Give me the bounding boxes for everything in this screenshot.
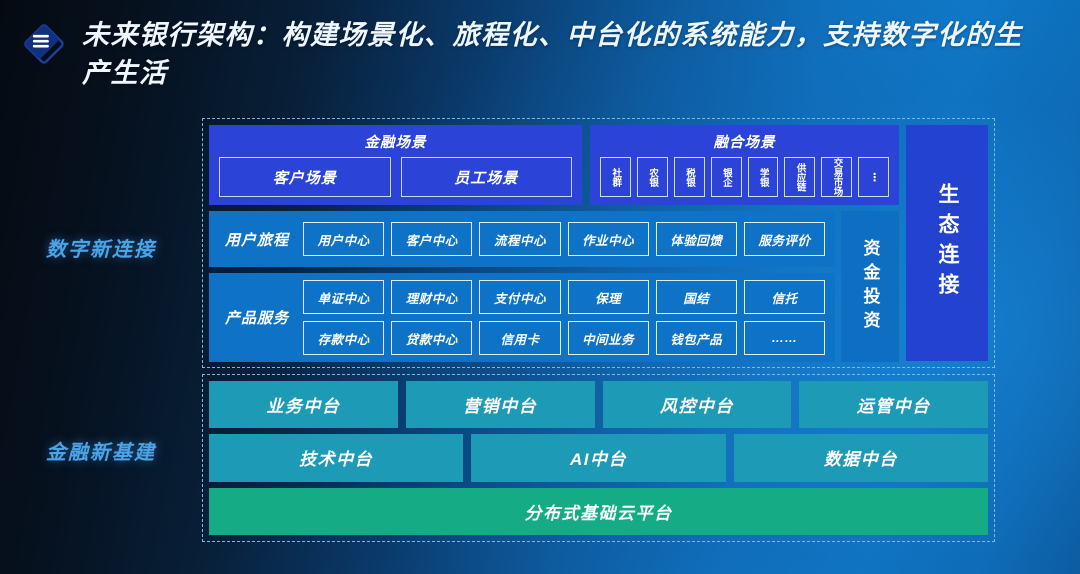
midplatform-ai[interactable]: AI中台: [471, 434, 725, 481]
journey-chip-user-center[interactable]: 用户中心: [303, 222, 384, 256]
fusion-chip-bank-enterprise[interactable]: 银企: [711, 157, 742, 197]
journey-chip-process-center[interactable]: 流程中心: [479, 222, 560, 256]
finance-scene-chip-row: 客户场景 员工场景: [219, 157, 572, 197]
product-service-band: 产品服务 单证中心 理财中心 支付中心 保理 国结 信托 存款中心 贷款中心: [209, 273, 835, 362]
midplatform-technology[interactable]: 技术中台: [209, 434, 463, 481]
product-chip-intl-settlement[interactable]: 国结: [656, 280, 737, 314]
midplatform-operations[interactable]: 运管中台: [799, 381, 988, 428]
user-journey-band: 用户旅程 用户中心 客户中心 流程中心 作业中心 体验回馈 服务评价: [209, 211, 835, 267]
distributed-cloud-platform[interactable]: 分布式基础云平台: [209, 488, 988, 535]
fusion-chip-school-bank[interactable]: 学银: [748, 157, 779, 197]
scene-chip-employee[interactable]: 员工场景: [401, 157, 573, 197]
fusion-chip-agri-bank[interactable]: 农银: [637, 157, 668, 197]
fusion-chip-tax-bank[interactable]: 税银: [674, 157, 705, 197]
midplatform-business[interactable]: 业务中台: [209, 381, 398, 428]
product-chip-document-center[interactable]: 单证中心: [303, 280, 384, 314]
product-chip-row-2: 存款中心 贷款中心 信用卡 中间业务 钱包产品 ……: [303, 321, 825, 355]
upper-panel-content: 金融场景 客户场景 员工场景 融合场景 社群 农银 税银 银企 学银 供应链 交…: [209, 125, 899, 361]
financial-infrastructure-panel: 业务中台 营销中台 风控中台 运管中台 技术中台 AI中台 数据中台 分布式基础…: [202, 374, 995, 542]
product-chip-deposit-center[interactable]: 存款中心: [303, 321, 384, 355]
journey-chip-experience-feedback[interactable]: 体验回馈: [656, 222, 737, 256]
page-header: 未来银行架构：构建场景化、旅程化、中台化的系统能力，支持数字化的生产生活: [0, 0, 1080, 100]
product-service-grid: 单证中心 理财中心 支付中心 保理 国结 信托 存款中心 贷款中心 信用卡 中间…: [303, 280, 825, 355]
finance-scene-block: 金融场景 客户场景 员工场景: [209, 125, 582, 205]
fusion-chip-supply-chain[interactable]: 供应链: [784, 157, 815, 197]
cloud-platform-row: 分布式基础云平台: [209, 488, 988, 535]
fusion-scene-block: 融合场景 社群 农银 税银 银企 学银 供应链 交易市场 ⋮: [590, 125, 899, 205]
fund-investment-column: 资金投资: [841, 211, 899, 362]
journey-chip-operation-center[interactable]: 作业中心: [568, 222, 649, 256]
fusion-chip-community[interactable]: 社群: [600, 157, 631, 197]
product-chip-more[interactable]: ……: [744, 321, 825, 355]
midplatform-data[interactable]: 数据中台: [734, 434, 988, 481]
midplatform-marketing[interactable]: 营销中台: [406, 381, 595, 428]
fusion-scene-title: 融合场景: [714, 131, 776, 152]
scene-chip-customer[interactable]: 客户场景: [219, 157, 391, 197]
fusion-chip-more[interactable]: ⋮: [858, 157, 889, 197]
journey-chip-customer-center[interactable]: 客户中心: [391, 222, 472, 256]
journey-chip-service-evaluation[interactable]: 服务评价: [744, 222, 825, 256]
product-chip-loan-center[interactable]: 贷款中心: [391, 321, 472, 355]
ecosystem-connection-column: 生态连接: [906, 125, 988, 361]
product-service-label: 产品服务: [219, 307, 295, 328]
product-chip-trust[interactable]: 信托: [744, 280, 825, 314]
ecosystem-connection-label: 生态连接: [932, 183, 962, 303]
fusion-chip-trading-market[interactable]: 交易市场: [821, 157, 852, 197]
side-label-financial-infrastructure: 金融新基建: [46, 436, 156, 465]
journey-product-wrapper: 用户旅程 用户中心 客户中心 流程中心 作业中心 体验回馈 服务评价 产品服务: [209, 211, 899, 362]
journey-product-stack: 用户旅程 用户中心 客户中心 流程中心 作业中心 体验回馈 服务评价 产品服务: [209, 211, 835, 362]
midplatform-row-2: 技术中台 AI中台 数据中台: [209, 434, 988, 481]
product-chip-credit-card[interactable]: 信用卡: [479, 321, 560, 355]
fund-investment-label: 资金投资: [858, 239, 883, 335]
digital-connection-panel: 金融场景 客户场景 员工场景 融合场景 社群 农银 税银 银企 学银 供应链 交…: [202, 118, 995, 368]
product-chip-factoring[interactable]: 保理: [568, 280, 649, 314]
scenes-row: 金融场景 客户场景 员工场景 融合场景 社群 农银 税银 银企 学银 供应链 交…: [209, 125, 899, 205]
user-journey-chip-row: 用户中心 客户中心 流程中心 作业中心 体验回馈 服务评价: [303, 222, 825, 256]
product-chip-wealth-center[interactable]: 理财中心: [391, 280, 472, 314]
product-chip-row-1: 单证中心 理财中心 支付中心 保理 国结 信托: [303, 280, 825, 314]
midplatform-row-1: 业务中台 营销中台 风控中台 运管中台: [209, 381, 988, 428]
user-journey-label: 用户旅程: [219, 229, 295, 250]
product-chip-wallet-product[interactable]: 钱包产品: [656, 321, 737, 355]
product-chip-payment-center[interactable]: 支付中心: [479, 280, 560, 314]
midplatform-risk-control[interactable]: 风控中台: [603, 381, 792, 428]
page-title: 未来银行架构：构建场景化、旅程化、中台化的系统能力，支持数字化的生产生活: [82, 16, 1032, 92]
side-label-digital-connection: 数字新连接: [46, 233, 156, 262]
finance-scene-title: 金融场景: [365, 131, 427, 152]
fusion-scene-chip-row: 社群 农银 税银 银企 学银 供应链 交易市场 ⋮: [600, 157, 889, 197]
product-chip-intermediary-business[interactable]: 中间业务: [568, 321, 649, 355]
diamond-logo-icon: [22, 22, 66, 66]
